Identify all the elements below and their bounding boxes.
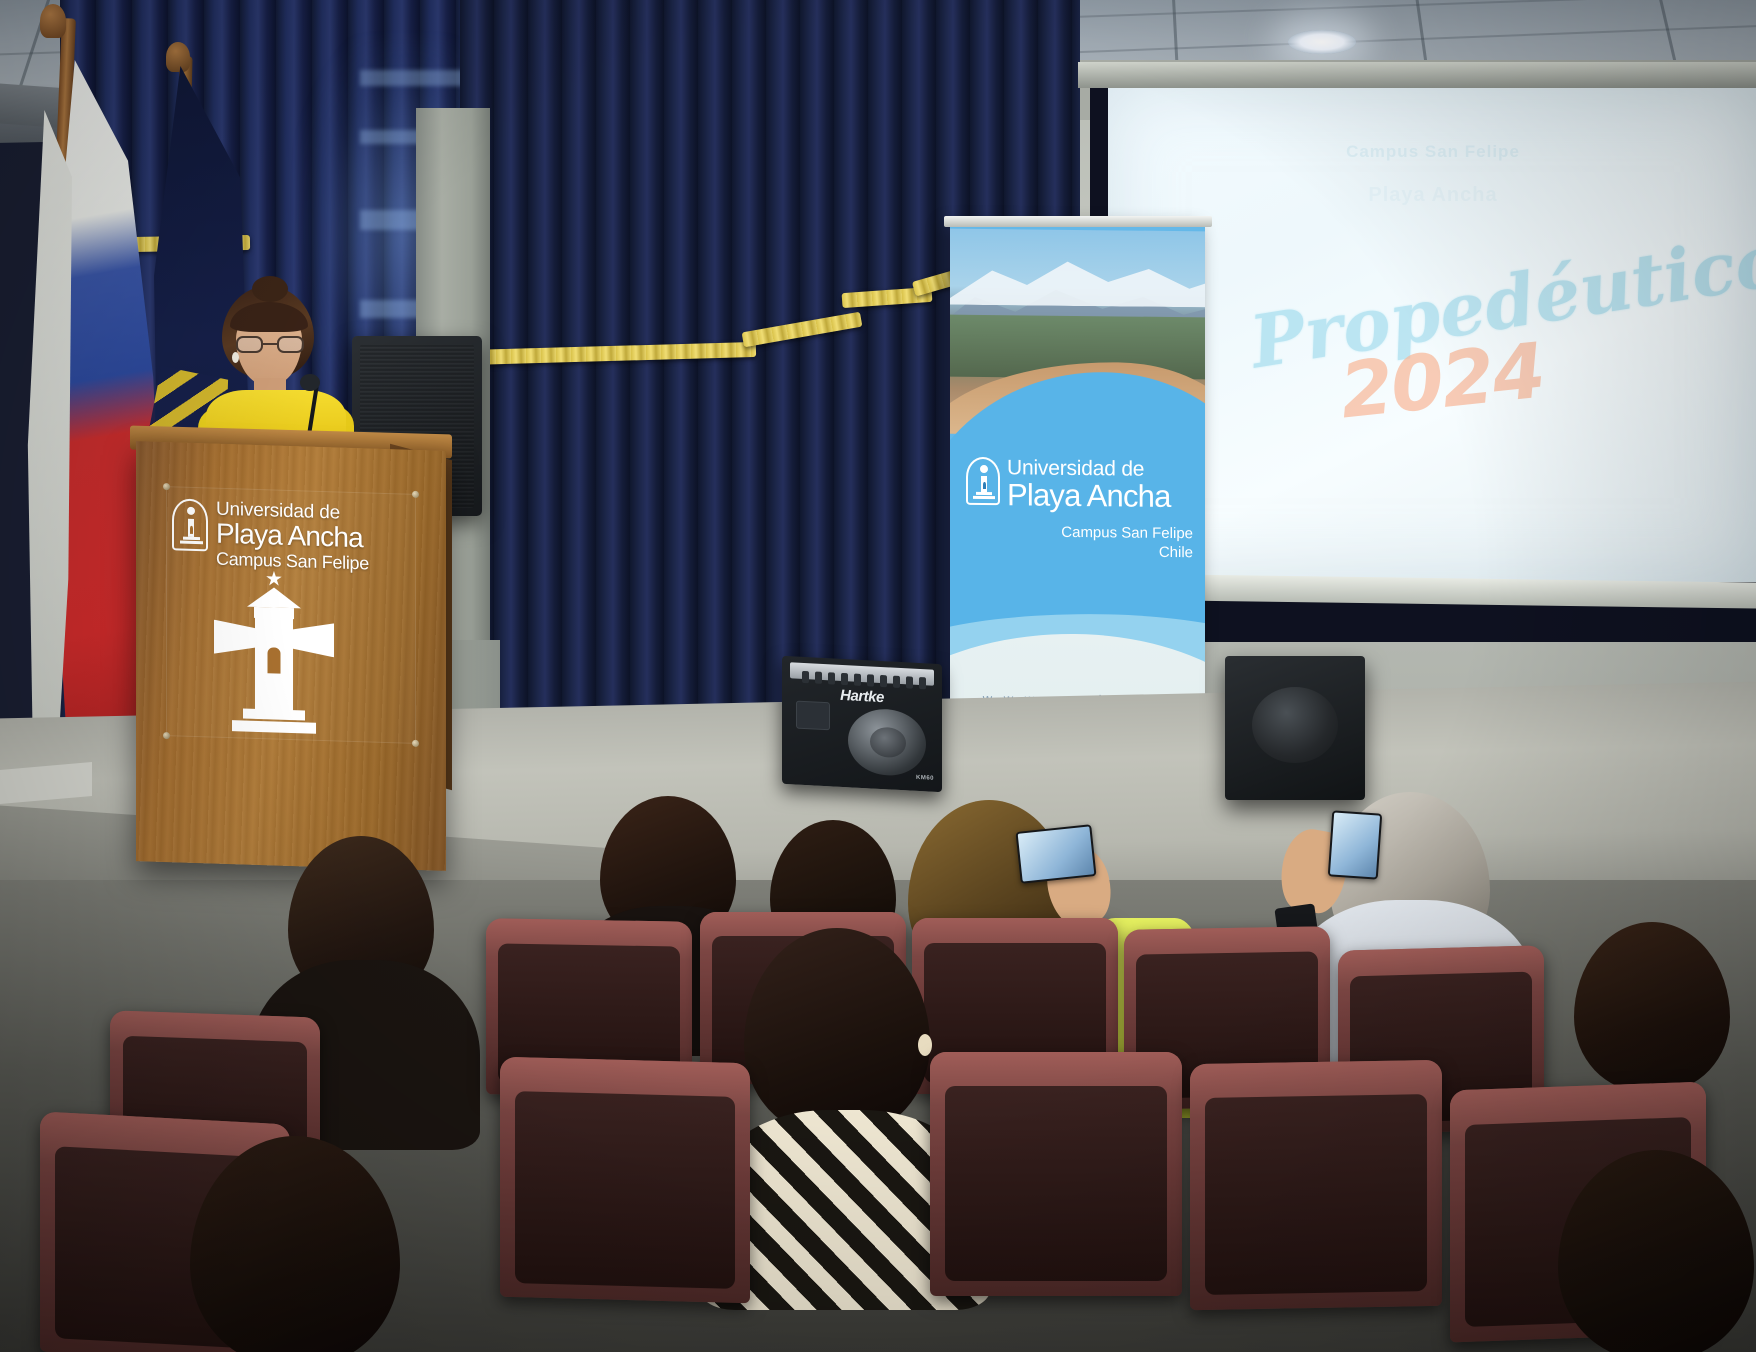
subwoofer	[1225, 656, 1365, 800]
podium-line-2: Playa Ancha	[216, 520, 369, 553]
lighthouse-emblem-icon	[966, 457, 1000, 505]
podium: Universidad de Playa Ancha Campus San Fe…	[136, 441, 446, 871]
flag-pole-1-finial	[40, 4, 66, 38]
seat-f4[interactable]	[1190, 1060, 1442, 1310]
podium-lighthouse-graphic: ★	[214, 568, 334, 737]
flag-pole-2-finial	[166, 42, 190, 72]
projection-screen: Campus San Felipe Playa Ancha Propedéuti…	[1108, 88, 1756, 582]
banner-campus: Campus San Felipe	[1061, 524, 1193, 544]
audience-phone-5[interactable]	[1328, 810, 1382, 879]
amplifier-control-panel	[790, 662, 934, 686]
banner-logo: Universidad de Playa Ancha	[966, 457, 1196, 512]
podium-logo: Universidad de Playa Ancha Campus San Fe…	[172, 498, 369, 572]
amplifier-model-label: KM60	[916, 775, 934, 782]
hartke-amplifier: Hartke KM60	[782, 656, 942, 792]
podium-lighthouse-emblem-icon	[172, 498, 208, 551]
auditorium-photo: Campus San Felipe Playa Ancha Propedéuti…	[0, 0, 1756, 1352]
projection-screen-housing	[1078, 62, 1756, 88]
slide-top-text-2: Playa Ancha	[1108, 184, 1756, 207]
banner-country: Chile	[1061, 543, 1193, 563]
audience-phone-4[interactable]	[1015, 824, 1096, 884]
audience-earring-front-1	[918, 1034, 932, 1056]
seat-f2[interactable]	[500, 1057, 750, 1304]
rollup-banner: Universidad de Playa Ancha Campus San Fe…	[950, 221, 1205, 769]
banner-line-2: Playa Ancha	[1007, 479, 1171, 512]
banner-subtitle-block: Campus San Felipe Chile	[1061, 524, 1193, 563]
presenter-glasses	[236, 336, 304, 353]
microphone-icon	[300, 374, 320, 391]
banner-top-rail	[944, 216, 1212, 227]
slide-top-text: Campus San Felipe	[1108, 142, 1756, 162]
ceiling-light-2	[1288, 30, 1356, 54]
seat-f3[interactable]	[930, 1052, 1182, 1296]
